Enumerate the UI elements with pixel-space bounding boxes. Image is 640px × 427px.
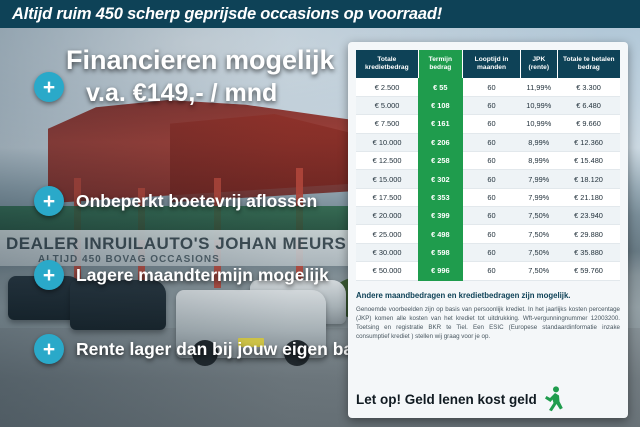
table-cell: € 20.000 [356,207,418,225]
table-cell: 60 [463,188,521,206]
table-cell: 8,99% [521,133,558,151]
table-cell: 60 [463,115,521,133]
table-cell: 60 [463,262,521,280]
plus-icon: + [43,339,55,360]
column-header-1: Termijn bedrag [418,50,462,78]
table-cell: € 598 [418,243,462,261]
table-cell: 60 [463,133,521,151]
column-header-4: Totale te betalen bedrag [557,50,620,78]
table-cell: € 161 [418,115,462,133]
table-cell: 7,50% [521,225,558,243]
table-cell: € 25.000 [356,225,418,243]
table-cell: € 15.000 [356,170,418,188]
table-row: € 25.000€ 498607,50%€ 29.880 [356,225,620,243]
table-cell: € 18.120 [557,170,620,188]
table-row: € 12.500€ 258608,99%€ 15.480 [356,151,620,169]
column-header-2: Looptijd in maanden [463,50,521,78]
table-row: € 7.500€ 1616010,99%€ 9.660 [356,115,620,133]
table-cell: 60 [463,207,521,225]
table-cell: 8,99% [521,151,558,169]
table-cell: 60 [463,170,521,188]
banner-text: Altijd ruim 450 scherp geprijsde occasio… [0,5,442,24]
bullet-item-3: + Rente lager dan bij jouw eigen bank [34,334,374,364]
table-cell: 60 [463,243,521,261]
table-cell: € 23.940 [557,207,620,225]
table-cell: € 2.500 [356,78,418,96]
table-cell: € 55 [418,78,462,96]
table-cell: 7,50% [521,262,558,280]
table-cell: € 302 [418,170,462,188]
table-cell: € 21.180 [557,188,620,206]
table-row: € 5.000€ 1086010,99%€ 6.480 [356,96,620,114]
table-cell: 60 [463,96,521,114]
bullet-item-1: + Onbeperkt boetevrij aflossen [34,186,317,216]
table-cell: € 35.880 [557,243,620,261]
table-cell: € 399 [418,207,462,225]
table-cell: 7,50% [521,243,558,261]
table-cell: € 10.000 [356,133,418,151]
table-cell: 60 [463,151,521,169]
plus-badge-1: + [34,186,64,216]
rates-table-body: € 2.500€ 556011,99%€ 3.300€ 5.000€ 10860… [356,78,620,280]
table-cell: € 3.300 [557,78,620,96]
table-cell: € 353 [418,188,462,206]
table-cell: 10,99% [521,96,558,114]
subheadline: v.a. €149,- / mnd [86,80,386,107]
table-row: € 30.000€ 598607,50%€ 35.880 [356,243,620,261]
table-cell: € 59.760 [557,262,620,280]
bullet-label-1: Onbeperkt boetevrij aflossen [76,191,317,212]
table-row: € 17.500€ 353607,99%€ 21.180 [356,188,620,206]
bullet-label-3: Rente lager dan bij jouw eigen bank [76,339,374,360]
table-cell: € 12.500 [356,151,418,169]
table-row: € 15.000€ 302607,99%€ 18.120 [356,170,620,188]
table-cell: € 7.500 [356,115,418,133]
table-cell: € 29.880 [557,225,620,243]
warning-bar: Let op! Geld lenen kost geld [356,386,620,412]
table-header-row: Totale kredietbedragTermijn bedragLoopti… [356,50,620,78]
table-row: € 50.000€ 996607,50%€ 59.760 [356,262,620,280]
rates-table-head: Totale kredietbedragTermijn bedragLoopti… [356,50,620,78]
table-cell: € 50.000 [356,262,418,280]
table-cell: € 206 [418,133,462,151]
plus-badge-2: + [34,260,64,290]
table-cell: € 258 [418,151,462,169]
table-cell: € 12.360 [557,133,620,151]
table-cell: 7,50% [521,207,558,225]
table-cell: 10,99% [521,115,558,133]
table-cell: € 9.660 [557,115,620,133]
table-cell: € 17.500 [356,188,418,206]
warning-text: Let op! Geld lenen kost geld [356,392,537,407]
table-cell: € 996 [418,262,462,280]
column-header-3: JPK (rente) [521,50,558,78]
table-row: € 2.500€ 556011,99%€ 3.300 [356,78,620,96]
table-cell: 7,99% [521,188,558,206]
table-cell: € 108 [418,96,462,114]
notes-title: Andere maandbedragen en kredietbedragen … [356,291,620,300]
plus-badge-headline: + [34,72,64,102]
table-cell: € 498 [418,225,462,243]
notes-body: Genoemde voorbeelden zijn op basis van p… [356,305,620,342]
table-cell: € 5.000 [356,96,418,114]
rates-table: Totale kredietbedragTermijn bedragLoopti… [356,50,620,281]
plus-icon: + [43,265,55,286]
table-cell: € 6.480 [557,96,620,114]
rates-panel: Totale kredietbedragTermijn bedragLoopti… [348,42,628,418]
table-cell: 60 [463,225,521,243]
table-cell: € 30.000 [356,243,418,261]
headline: Financieren mogelijk [66,46,366,75]
table-cell: 11,99% [521,78,558,96]
plus-icon: + [43,77,55,98]
plus-badge-3: + [34,334,64,364]
table-cell: € 15.480 [557,151,620,169]
walking-person-icon [543,386,565,412]
bullet-item-2: + Lagere maandtermijn mogelijk [34,260,329,290]
table-cell: 60 [463,78,521,96]
column-header-0: Totale kredietbedrag [356,50,418,78]
bullet-label-2: Lagere maandtermijn mogelijk [76,265,329,286]
top-banner: Altijd ruim 450 scherp geprijsde occasio… [0,0,640,28]
table-row: € 10.000€ 206608,99%€ 12.360 [356,133,620,151]
plus-icon: + [43,191,55,212]
table-row: € 20.000€ 399607,50%€ 23.940 [356,207,620,225]
table-cell: 7,99% [521,170,558,188]
